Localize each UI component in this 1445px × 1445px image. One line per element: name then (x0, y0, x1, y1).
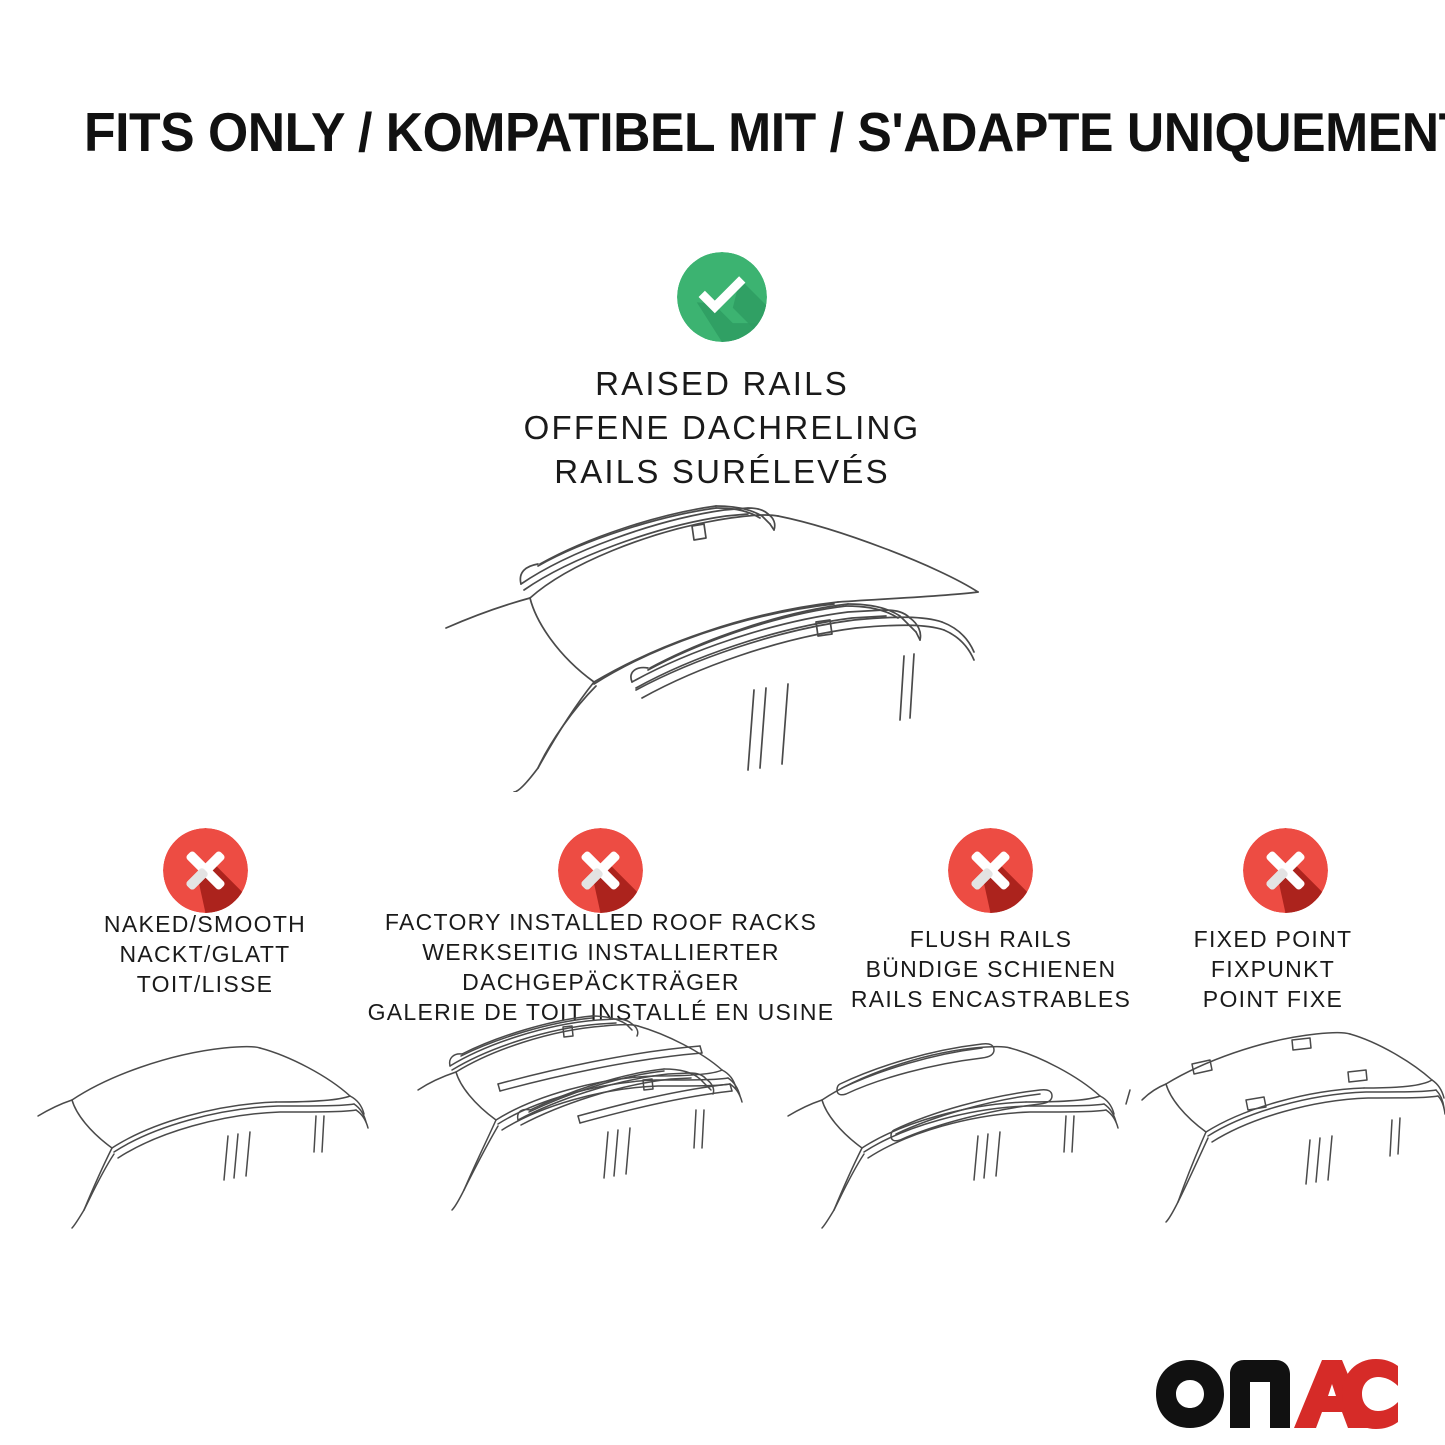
caption-line: TOIT/LISSE (55, 970, 355, 1000)
caption-line: POINT FIXE (1148, 985, 1398, 1015)
caption-line: WERKSEITIG INSTALLIERTER (355, 938, 847, 968)
caption-line: BÜNDIGE SCHIENEN (840, 955, 1142, 985)
x-circle-icon (1243, 828, 1328, 913)
caption-line: DACHGEPÄCKTRÄGER (355, 968, 847, 998)
incompatible-caption-2: FACTORY INSTALLED ROOF RACKS WERKSEITIG … (355, 908, 847, 1028)
page-title: FITS ONLY / KOMPATIBEL MIT / S'ADAPTE UN… (84, 104, 1306, 162)
x-circle-icon (948, 828, 1033, 913)
compatible-caption: RAISED RAILS OFFENE DACHRELING RAILS SUR… (372, 362, 1072, 494)
caption-line: FIXPUNKT (1148, 955, 1398, 985)
incompatible-caption-4: FIXED POINT FIXPUNKT POINT FIXE (1148, 925, 1398, 1015)
x-circle-icon (163, 828, 248, 913)
caption-line: NACKT/GLATT (55, 940, 355, 970)
car-roof-factory-racks-illustration (400, 1012, 760, 1252)
car-roof-naked-smooth-illustration (28, 1022, 388, 1252)
incompatible-caption-1: NAKED/SMOOTH NACKT/GLATT TOIT/LISSE (55, 910, 355, 1000)
caption-line: RAILS SURÉLEVÉS (372, 450, 1072, 494)
logo-letter-o (1156, 1360, 1224, 1428)
caption-line: FACTORY INSTALLED ROOF RACKS (355, 908, 847, 938)
incompatible-caption-3: FLUSH RAILS BÜNDIGE SCHIENEN RAILS ENCAS… (840, 925, 1142, 1015)
omac-logo (1152, 1352, 1402, 1430)
caption-line: FLUSH RAILS (840, 925, 1142, 955)
car-roof-flush-rails-illustration (778, 1022, 1138, 1252)
caption-line: OFFENE DACHRELING (372, 406, 1072, 450)
caption-line: RAILS ENCASTRABLES (840, 985, 1142, 1015)
caption-line: RAISED RAILS (372, 362, 1072, 406)
x-circle-icon (558, 828, 643, 913)
caption-line: NAKED/SMOOTH (55, 910, 355, 940)
car-roof-raised-rails-illustration (418, 492, 1038, 792)
caption-line: FIXED POINT (1148, 925, 1398, 955)
logo-letter-m (1230, 1360, 1290, 1428)
check-circle-icon (677, 252, 767, 342)
car-roof-fixed-point-illustration (1140, 1022, 1445, 1252)
